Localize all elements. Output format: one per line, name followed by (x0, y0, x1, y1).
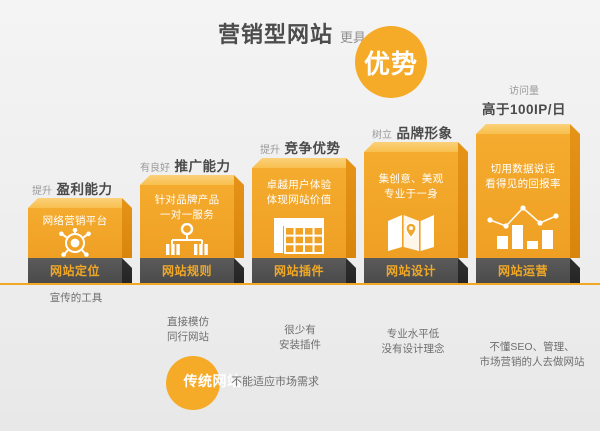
step-block-5[interactable]: 切用数据说话 看得见的回报率 网 (476, 134, 570, 258)
step-5-base-bar[interactable]: 网站运营 (476, 258, 570, 283)
ground-line (0, 283, 600, 285)
step-2-base-label: 网站规则 (162, 262, 212, 279)
step-4-top-prefix: 树立 (372, 130, 392, 141)
step-4-base-side (458, 258, 468, 283)
step-2-body-text: 针对品牌产品 一对一服务 (140, 193, 234, 223)
step-4-body-text: 集创意、美观 专业于一身 (364, 172, 458, 202)
header: 营销型网站 更具 优势 (0, 14, 600, 92)
traditional-site-description: 不能适应市场需求 (231, 373, 319, 389)
step-1-base-side (122, 258, 132, 283)
step-5-top-prefix: 访问量 (474, 82, 574, 97)
step-3-base-label: 网站插件 (274, 262, 324, 279)
step-1-base-label: 网站定位 (50, 262, 100, 279)
page-title: 营销型网站 (218, 20, 333, 50)
step-5-top-strong: 高于100IP/日 (474, 98, 574, 118)
step-2-top-caption: 有良好 推广能力 (140, 155, 230, 176)
target-icon (28, 228, 122, 258)
step-3-side-face (346, 158, 356, 258)
advantage-badge-label: 优势 (364, 44, 418, 81)
calendar-grid-icon (252, 216, 346, 256)
step-5-bottom-caption: 不懂SEO、管理、 市场营销的人去做网站 (468, 340, 596, 370)
step-2-base-bar[interactable]: 网站规则 (140, 258, 234, 283)
step-4-top-face (364, 142, 458, 152)
step-block-4[interactable]: 集创意、美观 专业于一身 网站设计 (364, 152, 458, 258)
step-2-side-face (234, 175, 244, 258)
step-4-top-caption: 树立 品牌形象 (372, 122, 452, 143)
step-4-base-bar[interactable]: 网站设计 (364, 258, 458, 283)
step-1-base-bar[interactable]: 网站定位 (28, 258, 122, 283)
step-5-top-caption: 访问量 高于100IP/日 (474, 82, 574, 118)
step-4-bottom-caption: 专业水平低 没有设计理念 (358, 327, 468, 357)
step-3-base-side (346, 258, 356, 283)
advantage-badge: 优势 (355, 26, 427, 98)
step-5-base-label: 网站运营 (498, 262, 548, 279)
step-2-top-strong: 推广能力 (174, 159, 230, 174)
hierarchy-server-icon (140, 223, 234, 257)
header-title-group: 营销型网站 更具 (218, 20, 366, 53)
infographic-canvas: 营销型网站 更具 优势 网络营销平台 (0, 0, 600, 431)
step-5-side-face (570, 124, 580, 258)
step-2-base-side (234, 258, 244, 283)
step-2-bottom-caption: 直接模仿 同行网站 (136, 315, 240, 345)
step-4-base-label: 网站设计 (386, 262, 436, 279)
step-block-3[interactable]: 卓越用户体验 体现网站价值 网站插件 (252, 168, 346, 258)
map-pin-icon (364, 210, 458, 256)
step-4-top-strong: 品牌形象 (396, 126, 452, 141)
step-5-top-face (476, 124, 570, 134)
step-3-top-prefix: 提升 (260, 145, 280, 156)
step-1-side-face (122, 198, 132, 258)
step-1-bottom-caption: 宣传的工具 (24, 291, 128, 306)
step-4-side-face (458, 142, 468, 258)
step-block-1[interactable]: 网络营销平台 网站定位 (28, 208, 122, 258)
step-3-top-strong: 竞争优势 (284, 141, 340, 156)
step-3-body-text: 卓越用户体验 体现网站价值 (252, 178, 346, 208)
step-block-2[interactable]: 针对品牌产品 一对一服务 网站规则 (140, 185, 234, 258)
step-5-base-side (570, 258, 580, 283)
step-5-body-text: 切用数据说话 看得见的回报率 (476, 162, 570, 192)
step-1-top-face (28, 198, 122, 208)
step-1-top-caption: 提升 盈利能力 (32, 178, 112, 199)
step-1-body-text: 网络营销平台 (28, 214, 122, 229)
step-1-top-strong: 盈利能力 (56, 182, 112, 197)
step-3-top-face (252, 158, 346, 168)
step-2-top-face (140, 175, 234, 185)
step-3-bottom-caption: 很少有 安装插件 (248, 323, 352, 353)
step-3-base-bar[interactable]: 网站插件 (252, 258, 346, 283)
step-3-top-caption: 提升 竞争优势 (260, 137, 340, 158)
step-2-top-prefix: 有良好 (140, 163, 170, 174)
bar-line-chart-icon (476, 202, 570, 254)
step-1-top-prefix: 提升 (32, 186, 52, 197)
